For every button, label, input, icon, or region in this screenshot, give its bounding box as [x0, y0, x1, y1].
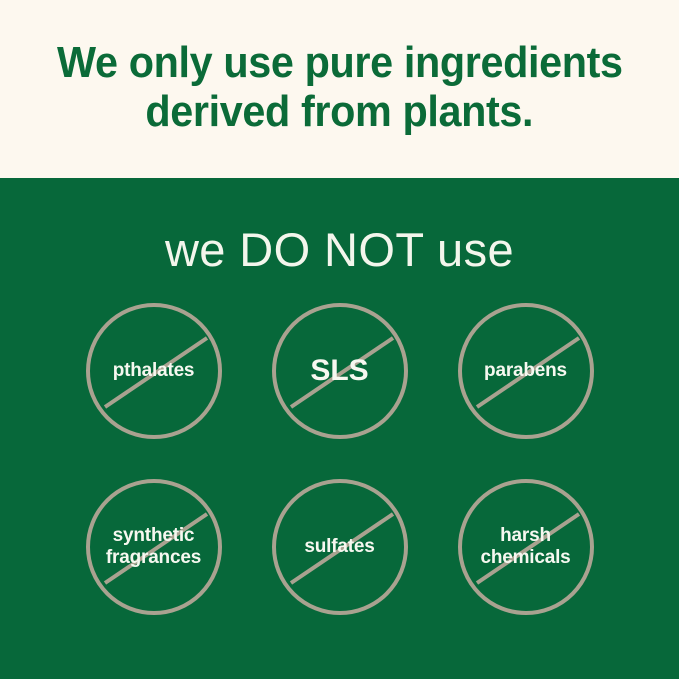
prohibited-badge-harsh-chemicals: harsh chemicals — [457, 478, 595, 616]
no-symbol-icon — [457, 478, 595, 616]
headline-line-2: derived from plants. — [146, 87, 534, 136]
prohibited-badge-sls: SLS — [271, 302, 409, 440]
no-symbol-icon — [85, 302, 223, 440]
headline-line-1: We only use pure ingredients — [57, 38, 623, 87]
do-not-use-panel: we DO NOT use pthalates — [0, 178, 679, 679]
no-symbol-icon — [85, 478, 223, 616]
no-symbol-icon — [271, 302, 409, 440]
prohibited-badge-sulfates: sulfates — [271, 478, 409, 616]
prohibited-ingredients-grid: pthalates SLS — [0, 302, 679, 616]
badge-row: pthalates SLS — [0, 302, 679, 440]
prohibited-badge-pthalates: pthalates — [85, 302, 223, 440]
prohibited-badge-synthetic-fragrances: synthetic fragrances — [85, 478, 223, 616]
no-symbol-icon — [457, 302, 595, 440]
prohibited-badge-parabens: parabens — [457, 302, 595, 440]
headline-banner: We only use pure ingredients derived fro… — [0, 0, 679, 178]
badge-row: synthetic fragrances sulfates — [0, 478, 679, 616]
ingredient-claims-poster: We only use pure ingredients derived fro… — [0, 0, 679, 679]
no-symbol-icon — [271, 478, 409, 616]
panel-heading: we DO NOT use — [0, 222, 679, 277]
